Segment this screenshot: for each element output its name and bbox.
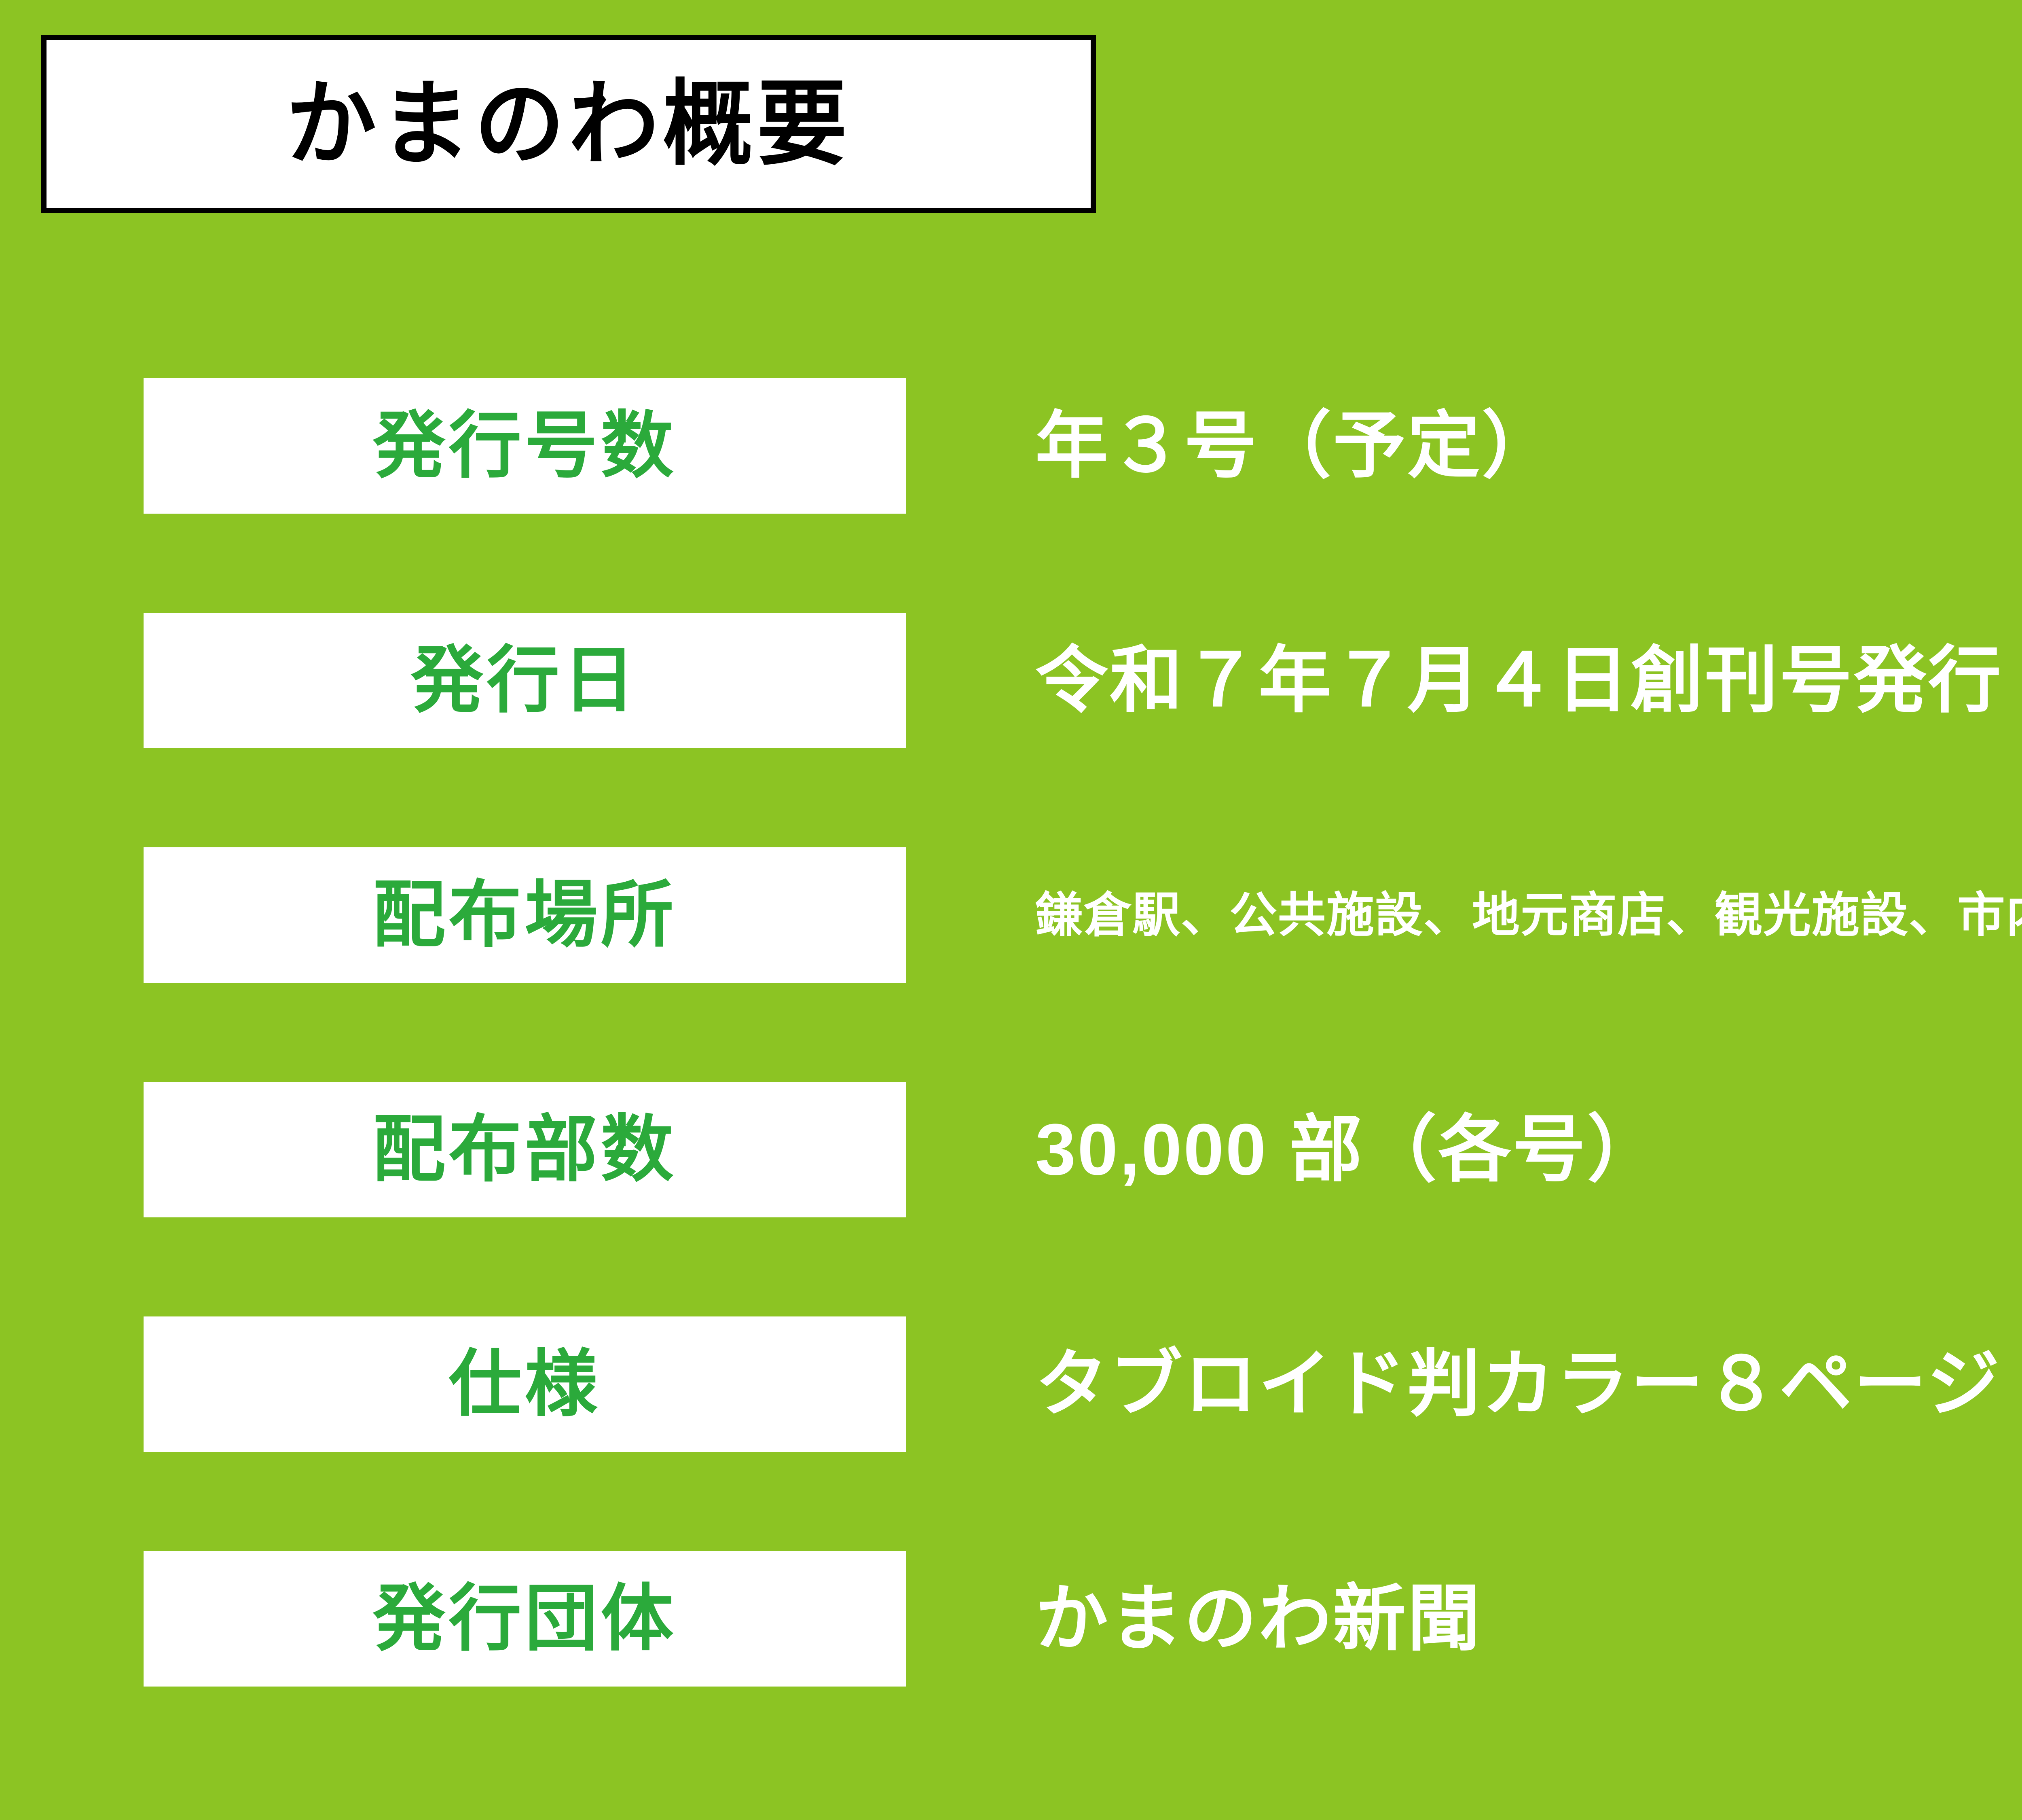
row-value-cell-copies: 30,000 部（各号） (1035, 1082, 1662, 1217)
row-value-cell-issue-count: 年３号（予定） (1035, 378, 1556, 514)
table-row: 仕様 タブロイド判カラー８ページ （創刊号のみ４ページ） (0, 1302, 2022, 1537)
row-label: 発行日 (410, 644, 639, 717)
table-row: 発行号数 年３号（予定） (0, 364, 2022, 599)
page-title: かまのわ概要 (286, 78, 851, 171)
row-label: 仕様 (448, 1348, 601, 1421)
row-label-box-distribution-places: 配布場所 (144, 847, 906, 983)
spec-table: 発行号数 年３号（予定） 発行日 令和７年７月４日創刊号発行（予定） 配布場所 … (0, 364, 2022, 1771)
row-value: 鎌倉駅、公共施設、地元商店、観光施設、市内小中学校 (1035, 891, 2022, 939)
row-label-box-specification: 仕様 (144, 1316, 906, 1452)
row-value-cell-specification: タブロイド判カラー８ページ （創刊号のみ４ページ） (1035, 1316, 2022, 1452)
row-value-cell-distribution-places: 鎌倉駅、公共施設、地元商店、観光施設、市内小中学校 (1035, 847, 2022, 983)
row-label-box-publication-date: 発行日 (144, 613, 906, 748)
row-value: タブロイド判カラー８ページ (1035, 1348, 2001, 1421)
row-value-note: （創刊号のみ４ページ） (2003, 1393, 2022, 1428)
row-value-cell-publication-date: 令和７年７月４日創刊号発行（予定） (1035, 613, 2022, 748)
row-label-box-publisher: 発行団体 (144, 1551, 906, 1687)
table-row: 発行日 令和７年７月４日創刊号発行（予定） (0, 599, 2022, 833)
table-row: 配布場所 鎌倉駅、公共施設、地元商店、観光施設、市内小中学校 (0, 833, 2022, 1068)
row-label: 発行団体 (372, 1583, 677, 1655)
row-value-cell-publisher: かまのわ新聞 (1035, 1551, 1482, 1687)
row-label: 発行号数 (372, 410, 677, 483)
row-value: 30,000 部（各号） (1035, 1113, 1662, 1186)
row-label: 配布場所 (372, 879, 677, 952)
table-row: 配布部数 30,000 部（各号） (0, 1068, 2022, 1302)
page-title-box: かまのわ概要 (41, 35, 1096, 213)
row-label: 配布部数 (372, 1113, 677, 1186)
row-value: 年３号（予定） (1035, 410, 1556, 483)
row-value: かまのわ新聞 (1035, 1583, 1482, 1655)
table-row: 発行団体 かまのわ新聞 (0, 1537, 2022, 1771)
row-label-box-issue-count: 発行号数 (144, 378, 906, 514)
row-value: 令和７年７月４日創刊号発行（予定） (1035, 644, 2022, 717)
row-label-box-copies: 配布部数 (144, 1082, 906, 1217)
